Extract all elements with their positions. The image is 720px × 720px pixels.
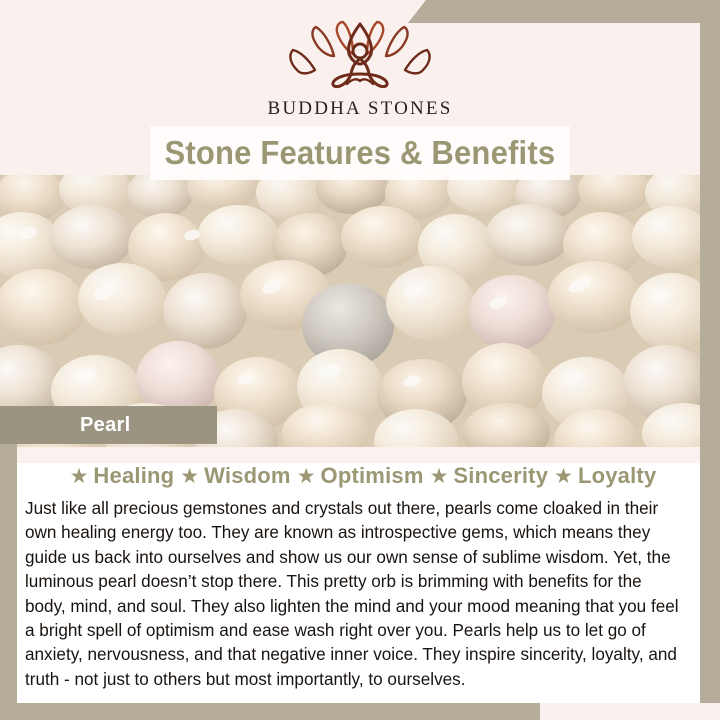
section-title-banner: Stone Features & Benefits	[150, 126, 570, 180]
keyword-wisdom: Wisdom	[204, 463, 291, 489]
star-icon: ★	[297, 464, 316, 489]
stone-name-label: Pearl	[0, 406, 217, 444]
star-icon: ★	[70, 464, 89, 489]
benefit-keywords: ★Healing★Wisdom★Optimism★Sincerity★Loyal…	[17, 463, 703, 489]
panel-top-tint	[17, 447, 703, 463]
star-icon: ★	[430, 464, 449, 489]
left-frame-rail	[0, 440, 17, 720]
bottom-right-fill	[540, 703, 720, 720]
keyword-optimism: Optimism	[321, 463, 424, 489]
keyword-sincerity: Sincerity	[453, 463, 548, 489]
right-frame-rail	[700, 0, 720, 720]
keyword-healing: Healing	[93, 463, 174, 489]
description-panel: ★Healing★Wisdom★Optimism★Sincerity★Loyal…	[17, 447, 703, 703]
section-title-text: Stone Features & Benefits	[165, 134, 556, 172]
stone-name-text: Pearl	[80, 414, 130, 437]
keyword-loyalty: Loyalty	[578, 463, 656, 489]
bottom-frame-bar	[0, 703, 540, 720]
star-icon: ★	[554, 464, 573, 489]
star-icon: ★	[180, 464, 199, 489]
infographic-card: BUDDHA STONES Stone Features & Benefits	[0, 0, 720, 720]
top-right-corner-wedge	[408, 0, 720, 23]
description-text: Just like all precious gemstones and cry…	[25, 496, 685, 691]
